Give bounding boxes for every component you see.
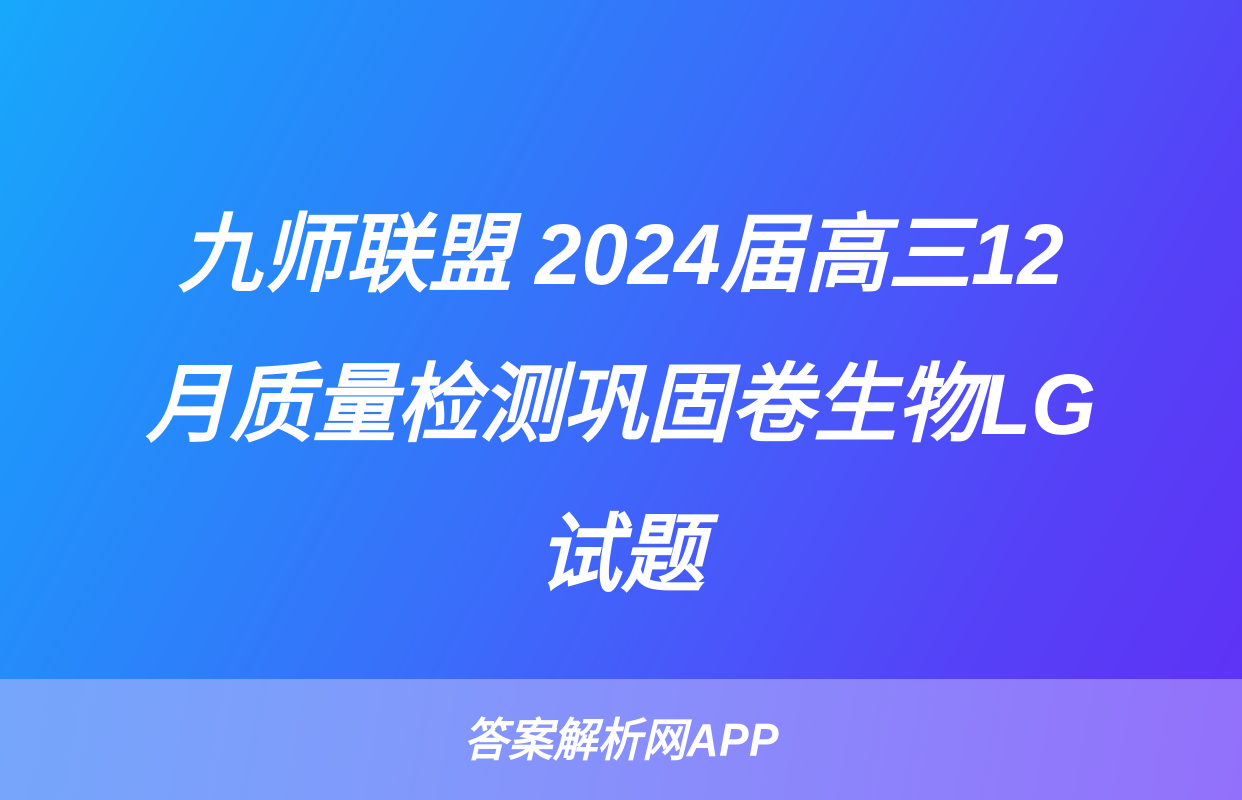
banner-title-line-2: 月质量检测巩固卷生物LG xyxy=(54,330,1189,480)
exam-paper-cover-banner: 九师联盟 2024届高三12 月质量检测巩固卷生物LG 试题 答案解析网APP xyxy=(0,0,1242,800)
banner-title: 九师联盟 2024届高三12 月质量检测巩固卷生物LG 试题 xyxy=(0,180,1242,630)
banner-title-line-1: 九师联盟 2024届高三12 xyxy=(54,180,1189,330)
app-watermark-label: 答案解析网APP xyxy=(463,717,778,763)
banner-title-line-3: 试题 xyxy=(54,480,1189,630)
footer-watermark-band: 答案解析网APP xyxy=(0,679,1242,800)
